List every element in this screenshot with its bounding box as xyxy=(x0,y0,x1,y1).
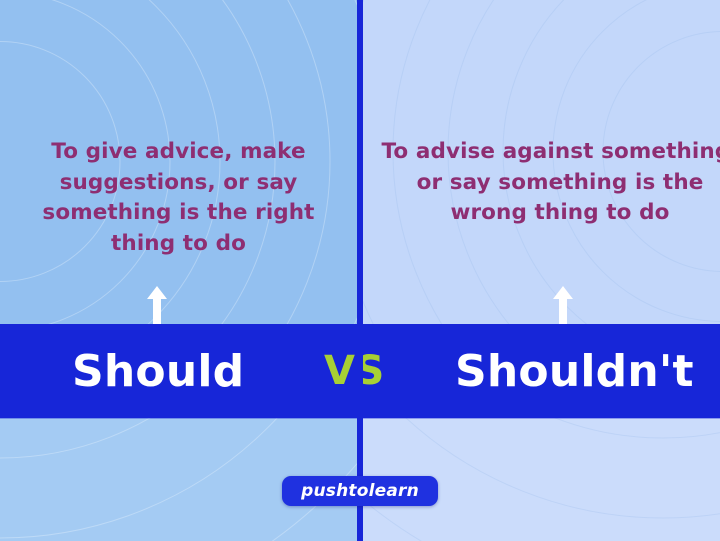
vs-label: VS xyxy=(324,348,385,394)
shouldnt-title: Shouldn't xyxy=(455,346,694,397)
should-description: To give advice, make suggestions, or say… xyxy=(0,137,357,259)
brand-badge: pushtolearn xyxy=(282,476,438,506)
brand-badge-label: pushtolearn xyxy=(301,481,419,501)
shouldnt-description: To advise against something, or say some… xyxy=(374,137,720,229)
should-title: Should xyxy=(72,346,244,397)
arrow-up-icon xyxy=(146,285,168,329)
arrow-up-icon xyxy=(552,285,574,329)
poster-canvas: To give advice, make suggestions, or say… xyxy=(0,0,720,541)
vertical-divider xyxy=(357,0,363,541)
